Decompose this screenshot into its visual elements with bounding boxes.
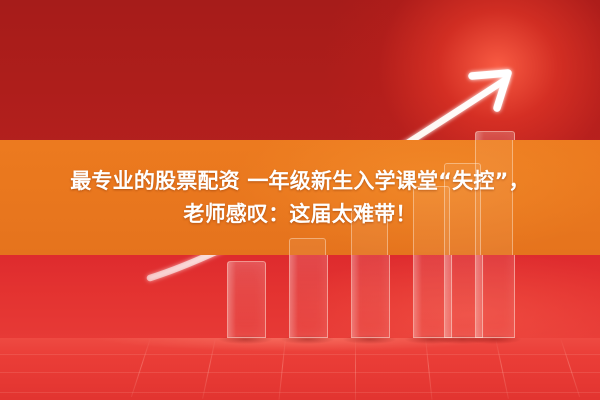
banner-image: 最专业的股票配资 一年级新生入学课堂“失控”， 老师感叹：这届太难带！ [0,0,600,400]
headline-line-1: 最专业的股票配资 一年级新生入学课堂“失控”， [70,168,530,194]
headline: 最专业的股票配资 一年级新生入学课堂“失控”， 老师感叹：这届太难带！ [0,140,600,255]
headline-line-2: 老师感叹：这届太难带！ [183,201,416,227]
bar-1 [227,261,266,338]
